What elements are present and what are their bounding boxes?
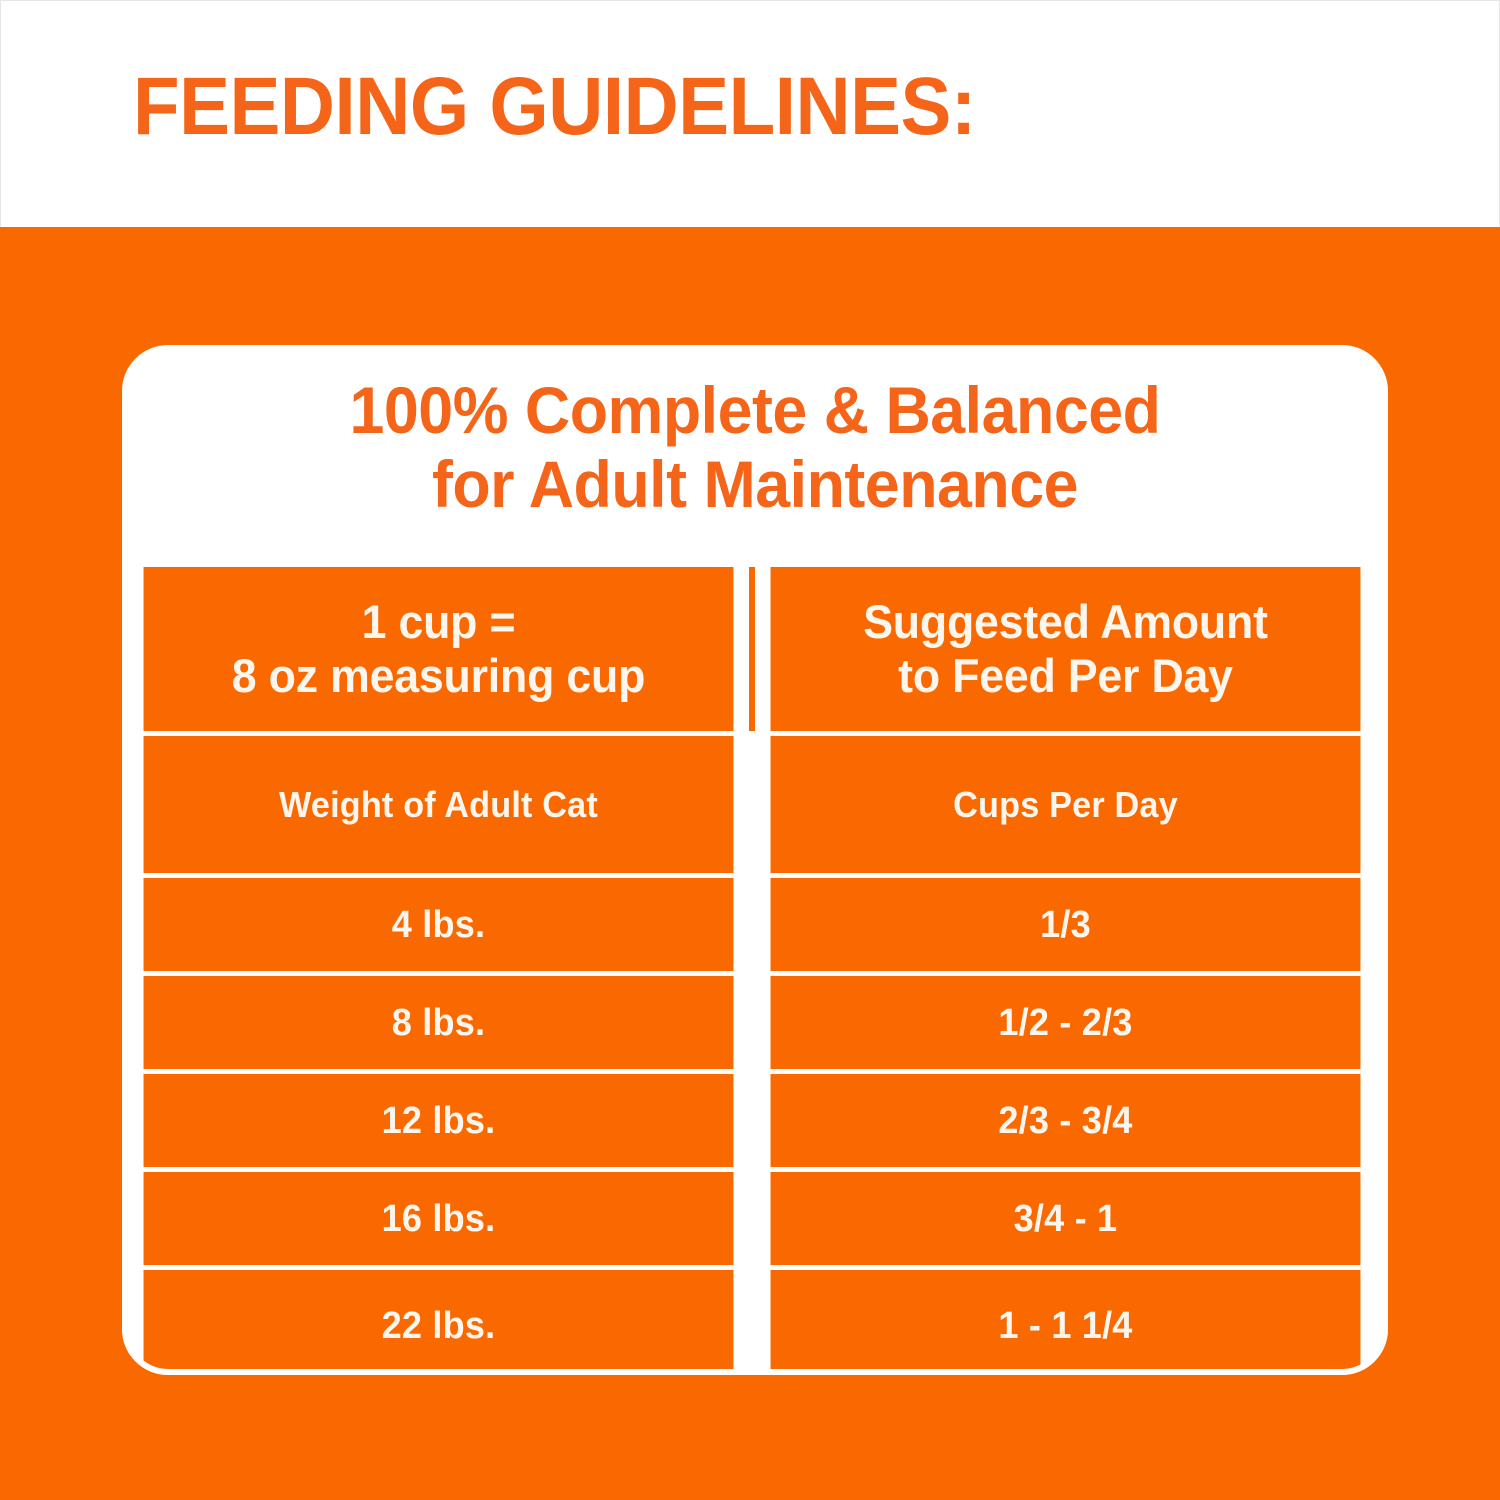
table-header-primary: 1 cup = 8 oz measuring cup Suggested Amo… <box>128 567 1382 731</box>
table-row: 8 lbs. 1/2 - 2/3 <box>128 976 1382 1069</box>
card-title-line-2: for Adult Maintenance <box>154 447 1357 521</box>
table-row: 12 lbs. 2/3 - 3/4 <box>128 1074 1382 1167</box>
column-divider <box>749 1074 755 1167</box>
cell-weight: 8 lbs. <box>144 976 734 1069</box>
feeding-table: 1 cup = 8 oz measuring cup Suggested Amo… <box>128 567 1382 1369</box>
table-row: 22 lbs. 1 - 1 1/4 <box>128 1270 1382 1369</box>
cell-weight: 22 lbs. <box>144 1270 734 1369</box>
table-row: 16 lbs. 3/4 - 1 <box>128 1172 1382 1265</box>
header-suggested-amount-line-1: Suggested Amount <box>863 595 1268 649</box>
cell-cups: 1/2 - 2/3 <box>771 976 1361 1069</box>
column-divider <box>749 1270 755 1369</box>
column-divider <box>749 1172 755 1265</box>
cell-weight: 4 lbs. <box>144 878 734 971</box>
cell-cups: 3/4 - 1 <box>771 1172 1361 1265</box>
column-header-weight: Weight of Adult Cat <box>144 736 734 873</box>
banner: FEEDING GUIDELINES: <box>0 0 1500 227</box>
cell-weight: 12 lbs. <box>144 1074 734 1167</box>
header-divider-spacer <box>749 567 755 731</box>
card-title-line-1: 100% Complete & Balanced <box>154 373 1357 447</box>
column-divider <box>749 736 755 873</box>
column-divider <box>749 976 755 1069</box>
card-title: 100% Complete & Balanced for Adult Maint… <box>154 373 1357 521</box>
column-divider <box>749 878 755 971</box>
header-cup-definition: 1 cup = 8 oz measuring cup <box>144 567 734 731</box>
header-suggested-amount: Suggested Amount to Feed Per Day <box>771 567 1361 731</box>
header-suggested-amount-line-2: to Feed Per Day <box>863 649 1268 703</box>
column-header-cups: Cups Per Day <box>771 736 1361 873</box>
table-row: 4 lbs. 1/3 <box>128 878 1382 971</box>
feeding-guidelines-page: FEEDING GUIDELINES: 100% Complete & Bala… <box>0 0 1500 1500</box>
cell-cups: 1/3 <box>771 878 1361 971</box>
cell-weight: 16 lbs. <box>144 1172 734 1265</box>
guidelines-card: 100% Complete & Balanced for Adult Maint… <box>122 345 1388 1375</box>
cell-cups: 2/3 - 3/4 <box>771 1074 1361 1167</box>
header-cup-definition-line-1: 1 cup = <box>232 595 645 649</box>
page-title: FEEDING GUIDELINES: <box>133 59 976 155</box>
header-cup-definition-line-2: 8 oz measuring cup <box>232 649 645 703</box>
table-header-secondary: Weight of Adult Cat Cups Per Day <box>128 736 1382 873</box>
cell-cups: 1 - 1 1/4 <box>771 1270 1361 1369</box>
